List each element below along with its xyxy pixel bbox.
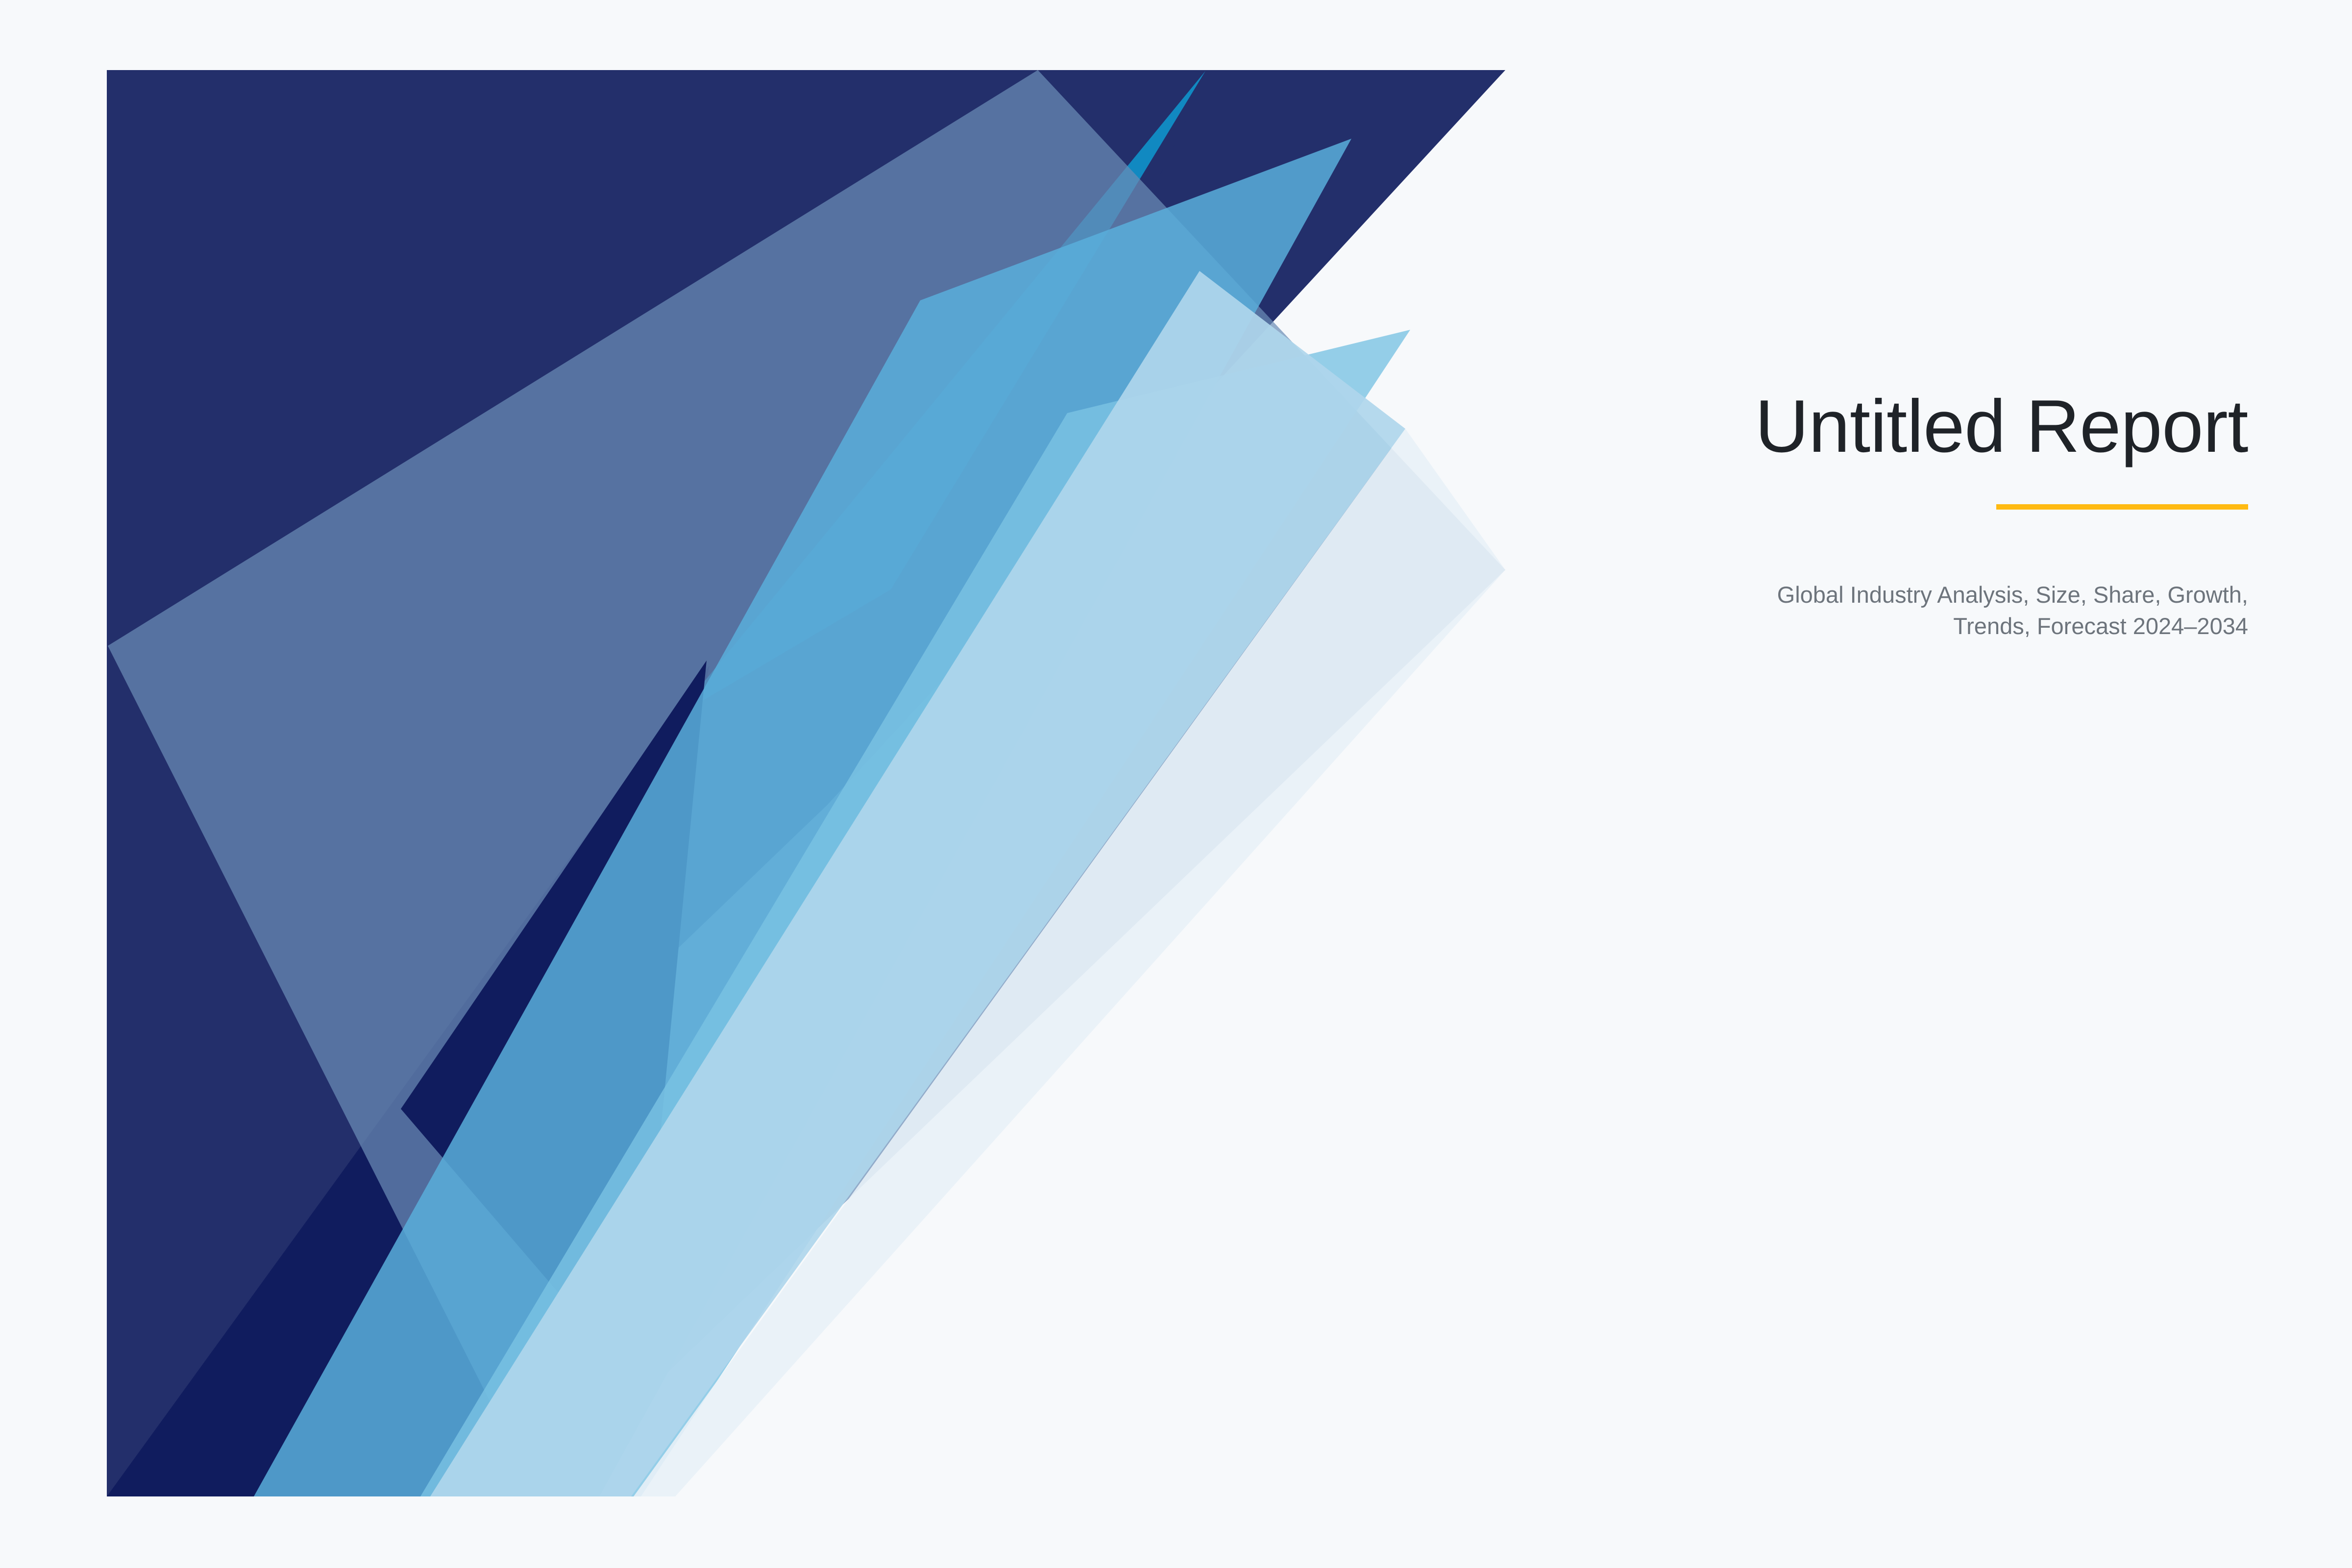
report-subtitle: Global Industry Analysis, Size, Share, G… bbox=[1729, 579, 2248, 642]
cover-artwork bbox=[107, 70, 1508, 1496]
title-accent-rule bbox=[1996, 504, 2248, 510]
abstract-geometric-graphic bbox=[107, 70, 1508, 1496]
artwork-shape-group bbox=[107, 70, 1505, 1496]
cover-title-block: Untitled Report Global Industry Analysis… bbox=[1548, 387, 2248, 642]
report-title: Untitled Report bbox=[1548, 387, 2248, 466]
cover-page: Untitled Report Global Industry Analysis… bbox=[0, 0, 2352, 1568]
